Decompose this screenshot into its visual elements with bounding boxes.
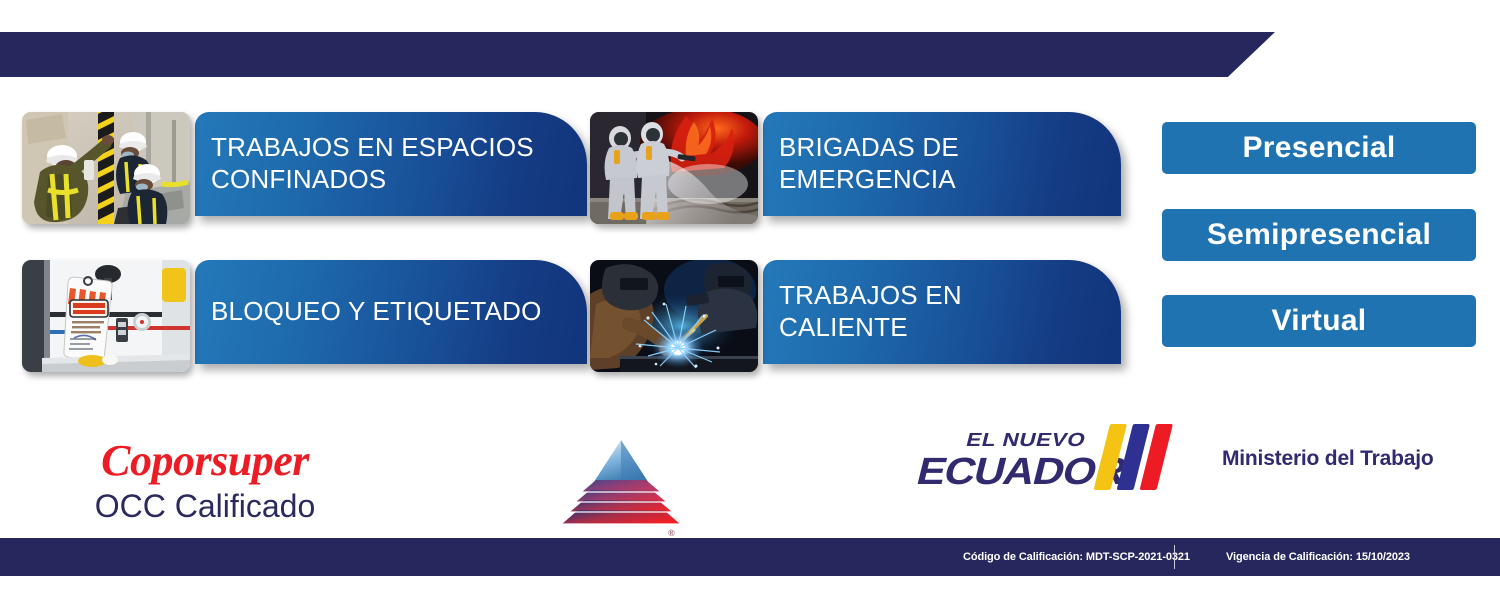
welding-sparks-photo xyxy=(590,260,758,372)
modality-button-virtual[interactable]: Virtual xyxy=(1162,295,1476,347)
modality-label: Semipresencial xyxy=(1207,218,1431,252)
top-decorative-banner xyxy=(0,32,1275,77)
confined-space-workers-photo xyxy=(22,112,190,224)
brand-name: Coporsuper xyxy=(55,438,355,484)
modality-button-presencial[interactable]: Presencial xyxy=(1162,122,1476,174)
course-card-label: TRABAJOS EN ESPACIOS CONFINADOS xyxy=(195,132,587,195)
course-card-banner[interactable]: BLOQUEO Y ETIQUETADO xyxy=(195,260,587,364)
modality-button-semipresencial[interactable]: Semipresencial xyxy=(1162,209,1476,261)
modality-label: Virtual xyxy=(1272,304,1367,338)
course-card-label: TRABAJOS EN CALIENTE xyxy=(763,280,1121,343)
qualification-validity: Vigencia de Calificación: 15/10/2023 xyxy=(1226,551,1410,563)
coporsuper-logo: Coporsuper OCC Calificado xyxy=(55,438,355,526)
lockout-tagout-tag-photo xyxy=(22,260,190,372)
modality-label: Presencial xyxy=(1242,131,1395,165)
qualification-code: Código de Calificación: MDT-SCP-2021-032… xyxy=(963,551,1190,563)
course-card-banner[interactable]: BRIGADAS DE EMERGENCIA xyxy=(763,112,1121,216)
ministry-label: Ministerio del Trabajo xyxy=(1222,447,1433,471)
firefighters-foam-photo xyxy=(590,112,758,224)
course-card-label: BLOQUEO Y ETIQUETADO xyxy=(195,296,572,328)
ecuador-line1: EL NUEVO xyxy=(964,430,1088,451)
layered-pyramid-logo: ® xyxy=(556,432,686,540)
el-nuevo-ecuador-logo: EL NUEVO ECUADOR xyxy=(915,420,1185,496)
registered-mark: ® xyxy=(668,528,675,538)
footer-divider xyxy=(1174,545,1175,569)
course-card-banner[interactable]: TRABAJOS EN ESPACIOS CONFINADOS xyxy=(195,112,587,216)
footer-bar: Código de Calificación: MDT-SCP-2021-032… xyxy=(0,538,1500,576)
course-card-banner[interactable]: TRABAJOS EN CALIENTE xyxy=(763,260,1121,364)
course-card-label: BRIGADAS DE EMERGENCIA xyxy=(763,132,1121,195)
brand-tagline: OCC Calificado xyxy=(55,486,355,526)
